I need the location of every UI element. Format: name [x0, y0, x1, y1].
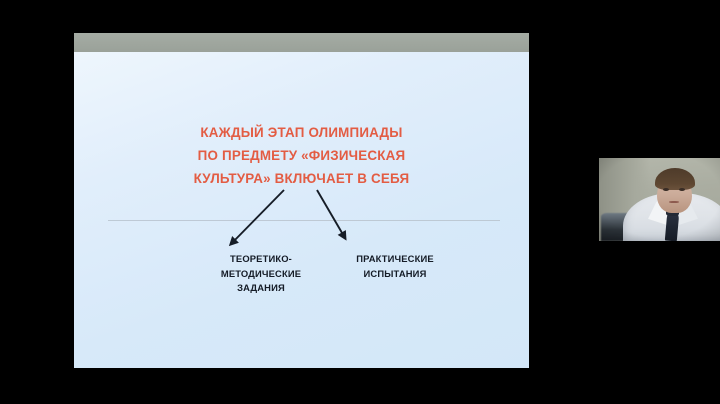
node-practical-trials: ПРАКТИЧЕСКИЕ ИСПЫТАНИЯ	[330, 252, 460, 281]
video-vignette	[599, 158, 720, 241]
node-theoretical-line-1: ТЕОРЕТИКО-	[196, 252, 326, 267]
video-frame	[599, 158, 720, 241]
slide-header-bar	[74, 33, 529, 52]
slide-divider-rule	[108, 220, 500, 221]
arrow-to-practical	[317, 190, 345, 238]
slide-title-line-1: КАЖДЫЙ ЭТАП ОЛИМПИАДЫ	[74, 121, 529, 144]
node-practical-line-2: ИСПЫТАНИЯ	[330, 267, 460, 282]
presentation-slide: КАЖДЫЙ ЭТАП ОЛИМПИАДЫ ПО ПРЕДМЕТУ «ФИЗИЧ…	[74, 33, 529, 368]
node-theoretical-methodical-tasks: ТЕОРЕТИКО- МЕТОДИЧЕСКИЕ ЗАДАНИЯ	[196, 252, 326, 296]
slide-body: КАЖДЫЙ ЭТАП ОЛИМПИАДЫ ПО ПРЕДМЕТУ «ФИЗИЧ…	[74, 52, 529, 368]
slide-title-line-3: КУЛЬТУРА» ВКЛЮЧАЕТ В СЕБЯ	[74, 167, 529, 190]
node-practical-line-1: ПРАКТИЧЕСКИЕ	[330, 252, 460, 267]
node-theoretical-line-3: ЗАДАНИЯ	[196, 281, 326, 296]
slide-title-line-2: ПО ПРЕДМЕТУ «ФИЗИЧЕСКАЯ	[74, 144, 529, 167]
slide-title: КАЖДЫЙ ЭТАП ОЛИМПИАДЫ ПО ПРЕДМЕТУ «ФИЗИЧ…	[74, 121, 529, 190]
arrow-to-theoretical	[231, 190, 284, 244]
participant-video-tile[interactable]	[599, 158, 720, 241]
screen-share-viewport: КАЖДЫЙ ЭТАП ОЛИМПИАДЫ ПО ПРЕДМЕТУ «ФИЗИЧ…	[0, 0, 720, 404]
node-theoretical-line-2: МЕТОДИЧЕСКИЕ	[196, 267, 326, 282]
connector-arrows	[74, 52, 529, 368]
